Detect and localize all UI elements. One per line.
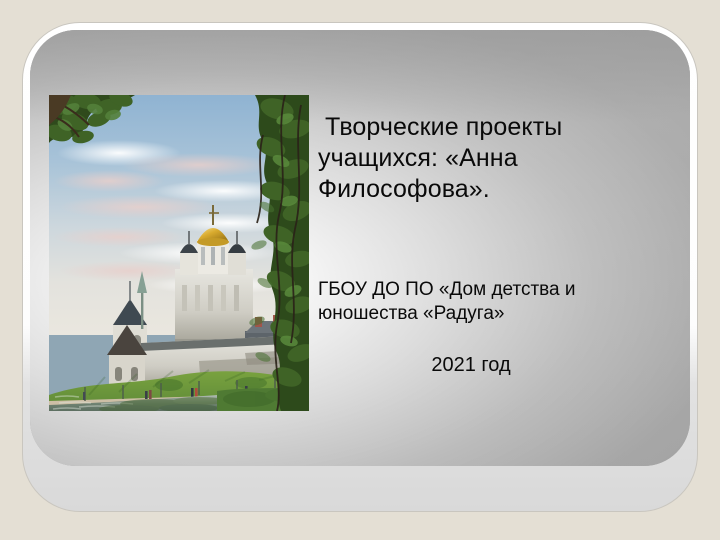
- organization-name: ГБОУ ДО ПО «Дом детства и юношества «Рад…: [318, 278, 666, 326]
- year-label: 2021 год: [318, 352, 624, 378]
- page-title: Творческие проекты учащихся: «Анна Филос…: [318, 112, 650, 205]
- title-block: Творческие проекты учащихся: «Анна Филос…: [318, 112, 650, 205]
- kremlin-photo-illustration: [49, 95, 309, 411]
- organization-block: ГБОУ ДО ПО «Дом детства и юношества «Рад…: [318, 278, 666, 326]
- kremlin-photo: [49, 95, 309, 411]
